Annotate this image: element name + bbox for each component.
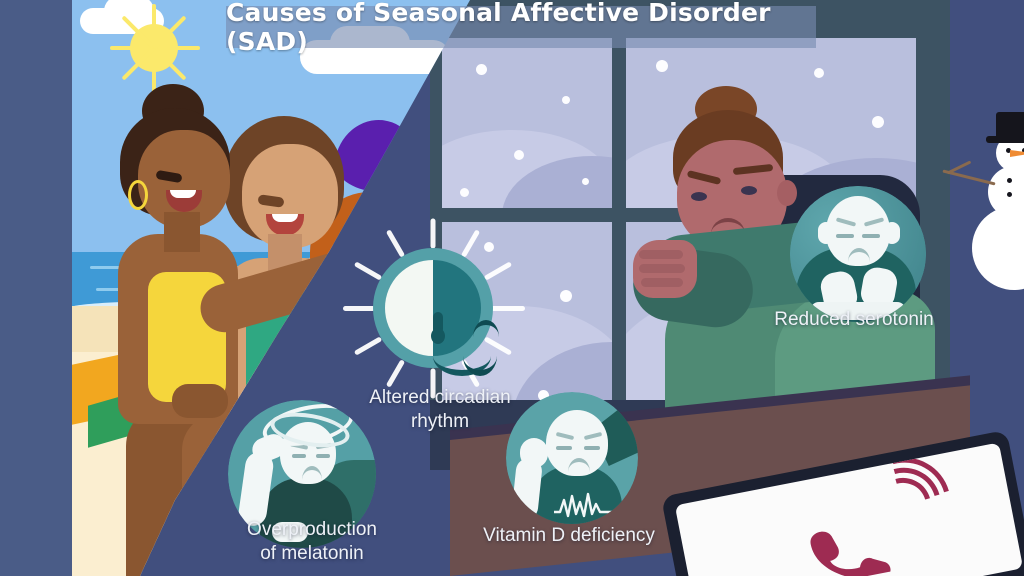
caption-line-1: Overproduction xyxy=(214,518,410,542)
heartbeat-line-icon xyxy=(554,492,616,524)
infographic-canvas: Causes of Seasonal Affective Disorder (S… xyxy=(0,0,1024,576)
caption-line-2: rhythm xyxy=(350,410,530,434)
caption-line-2: of melatonin xyxy=(214,542,410,566)
sun-moon-face-icon[interactable] xyxy=(357,232,509,384)
caption-overproduction-of-melatonin: Overproduction of melatonin xyxy=(214,518,410,566)
caption-line-1: Vitamin D deficiency xyxy=(462,524,676,548)
caption-reduced-serotonin: Reduced serotonin xyxy=(750,308,958,332)
sad-person-icon[interactable] xyxy=(790,186,926,322)
window-pane-top-left xyxy=(442,38,612,208)
caption-line-1: Altered circadian xyxy=(350,386,530,410)
caption-altered-circadian-rhythm: Altered circadian rhythm xyxy=(350,386,530,434)
caption-vitamin-d-deficiency: Vitamin D deficiency xyxy=(462,524,676,548)
left-border-band xyxy=(0,0,72,576)
snowman-icon xyxy=(950,120,1024,300)
page-title: Causes of Seasonal Affective Disorder (S… xyxy=(226,6,816,48)
caption-line-1: Reduced serotonin xyxy=(750,308,958,332)
